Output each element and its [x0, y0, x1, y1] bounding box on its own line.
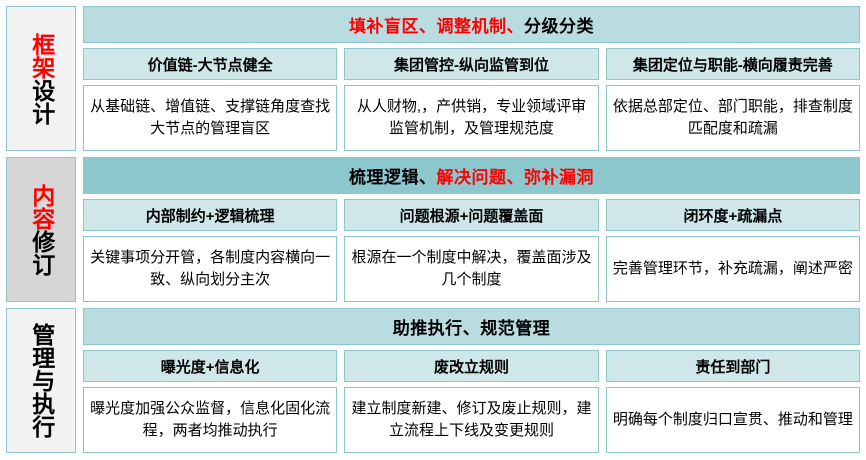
card-closed-loop: 闭环度+疏漏点 完善管理环节，补充疏漏，阐述严密 [606, 199, 860, 302]
card-title: 废改立规则 [344, 350, 598, 382]
section-management-execution: 管理与执行 助推执行、规范管理 曝光度+信息化 曝光度加强公众监督，信息化固化流… [6, 308, 860, 453]
card-abolish-amend-establish: 废改立规则 建立制度新建、修订及废止规则，建立流程上下线及变更规则 [344, 350, 598, 453]
row-label-black-part: 管理与执行 [29, 323, 55, 438]
banner-black-part: 分级分类 [524, 12, 594, 37]
row-label-framework-design: 框架设计 [6, 6, 76, 151]
row-label-red-part: 内容 [29, 184, 55, 230]
banner-red-part: 填补盲区、调整机制、 [349, 12, 524, 37]
section-banner-management-execution: 助推执行、规范管理 [83, 308, 860, 345]
card-body: 根源在一个制度中解决，覆盖面涉及几个制度 [344, 236, 598, 302]
section-body-framework-design: 填补盲区、调整机制、分级分类 价值链-大节点健全 从基础链、增值链、支撑链角度查… [83, 6, 860, 151]
card-body: 依据总部定位、部门职能，排查制度匹配度和疏漏 [606, 85, 860, 151]
card-internal-constraint: 内部制约+逻辑梳理 关键事项分开管，各制度内容横向一致、纵向划分主次 [83, 199, 337, 302]
card-value-chain: 价值链-大节点健全 从基础链、增值链、支撑链角度查找大节点的管理盲区 [83, 48, 337, 151]
card-title: 问题根源+问题覆盖面 [344, 199, 598, 231]
card-body: 完善管理环节，补充疏漏，阐述严密 [606, 236, 860, 302]
row-label-management-execution: 管理与执行 [6, 308, 76, 453]
card-title: 集团定位与职能-横向履责完善 [606, 48, 860, 80]
section-banner-framework-design: 填补盲区、调整机制、分级分类 [83, 6, 860, 43]
card-title: 集团管控-纵向监管到位 [344, 48, 598, 80]
card-group-content-revision: 内部制约+逻辑梳理 关键事项分开管，各制度内容横向一致、纵向划分主次 问题根源+… [83, 199, 860, 302]
card-body: 明确每个制度归口宣贯、推动和管理 [606, 387, 860, 453]
card-body: 从人财物,，产供销，专业领域评审监管机制，及管理规范度 [344, 85, 598, 151]
card-group-framework-design: 价值链-大节点健全 从基础链、增值链、支撑链角度查找大节点的管理盲区 集团管控-… [83, 48, 860, 151]
card-title: 闭环度+疏漏点 [606, 199, 860, 231]
card-problem-root: 问题根源+问题覆盖面 根源在一个制度中解决，覆盖面涉及几个制度 [344, 199, 598, 302]
row-label-content-revision: 内容修订 [6, 157, 76, 302]
section-body-management-execution: 助推执行、规范管理 曝光度+信息化 曝光度加强公众监督，信息化固化流程，两者均推… [83, 308, 860, 453]
card-title: 责任到部门 [606, 350, 860, 382]
card-group-control: 集团管控-纵向监管到位 从人财物,，产供销，专业领域评审监管机制，及管理规范度 [344, 48, 598, 151]
card-title: 内部制约+逻辑梳理 [83, 199, 337, 231]
card-body: 从基础链、增值链、支撑链角度查找大节点的管理盲区 [83, 85, 337, 151]
section-banner-content-revision: 梳理逻辑、解决问题、弥补漏洞 [83, 157, 860, 194]
banner-black-part: 助推执行、规范管理 [393, 314, 551, 339]
card-exposure-informatization: 曝光度+信息化 曝光度加强公众监督，信息化固化流程，两者均推动执行 [83, 350, 337, 453]
card-body: 建立制度新建、修订及废止规则，建立流程上下线及变更规则 [344, 387, 598, 453]
banner-black-part: 梳理逻辑、 [349, 163, 437, 188]
card-group-management-execution: 曝光度+信息化 曝光度加强公众监督，信息化固化流程，两者均推动执行 废改立规则 … [83, 350, 860, 453]
row-label-text: 管理与执行 [29, 323, 52, 438]
section-body-content-revision: 梳理逻辑、解决问题、弥补漏洞 内部制约+逻辑梳理 关键事项分开管，各制度内容横向… [83, 157, 860, 302]
framework-diagram: 框架设计 填补盲区、调整机制、分级分类 价值链-大节点健全 从基础链、增值链、支… [0, 0, 866, 460]
section-content-revision: 内容修订 梳理逻辑、解决问题、弥补漏洞 内部制约+逻辑梳理 关键事项分开管，各制… [6, 157, 860, 302]
card-title: 曝光度+信息化 [83, 350, 337, 382]
row-label-text: 框架设计 [29, 33, 52, 125]
section-framework-design: 框架设计 填补盲区、调整机制、分级分类 价值链-大节点健全 从基础链、增值链、支… [6, 6, 860, 151]
card-department-responsibility: 责任到部门 明确每个制度归口宣贯、推动和管理 [606, 350, 860, 453]
card-group-positioning: 集团定位与职能-横向履责完善 依据总部定位、部门职能，排查制度匹配度和疏漏 [606, 48, 860, 151]
row-label-text: 内容修订 [29, 184, 52, 276]
banner-red-part: 解决问题、弥补漏洞 [437, 163, 595, 188]
card-title: 价值链-大节点健全 [83, 48, 337, 80]
row-label-red-part: 框架 [29, 33, 55, 79]
row-label-black-part: 修订 [29, 230, 55, 276]
card-body: 曝光度加强公众监督，信息化固化流程，两者均推动执行 [83, 387, 337, 453]
card-body: 关键事项分开管，各制度内容横向一致、纵向划分主次 [83, 236, 337, 302]
row-label-black-part: 设计 [29, 79, 55, 125]
